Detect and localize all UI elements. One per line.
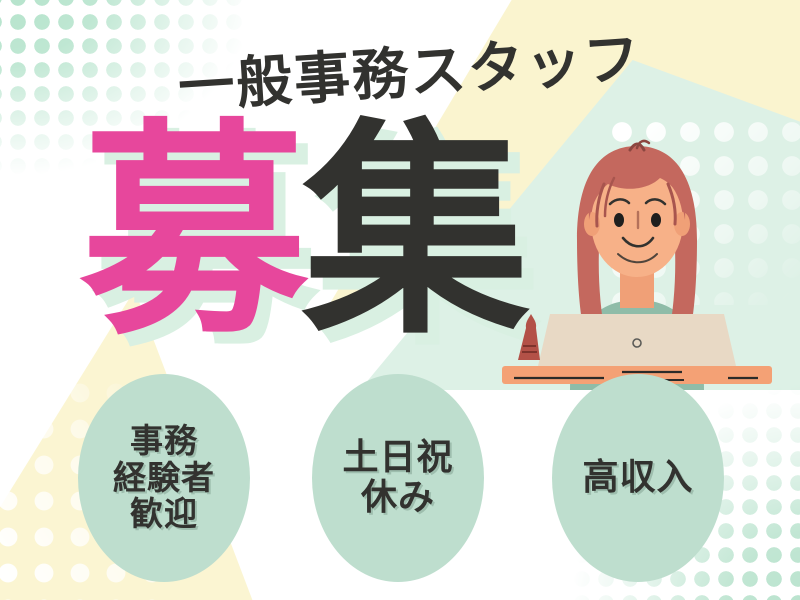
recruitment-poster: 一般事務スタッフ 募 集 bbox=[0, 0, 800, 600]
badge-line: 休み bbox=[361, 478, 435, 518]
eye-left bbox=[614, 213, 624, 227]
badge-high-income[interactable]: 高収入 bbox=[552, 374, 724, 582]
vase bbox=[518, 314, 540, 360]
main-word: 募 集 bbox=[80, 128, 530, 338]
main-word-char-bo: 募 bbox=[80, 128, 308, 338]
badge-line: 歓迎 bbox=[130, 496, 198, 533]
badge-office-experience-welcome[interactable]: 事務 経験者 歓迎 bbox=[78, 374, 250, 582]
eye-right bbox=[651, 213, 661, 227]
badge-group: 事務 経験者 歓迎 土日祝 休み 高収入 bbox=[72, 364, 772, 592]
badge-line: 土日祝 bbox=[342, 438, 453, 478]
badge-weekends-holidays-off[interactable]: 土日祝 休み bbox=[312, 374, 484, 582]
badge-line: 高収入 bbox=[582, 458, 693, 498]
woman-at-laptop-illustration bbox=[492, 128, 782, 390]
laptop bbox=[538, 314, 736, 366]
badge-line: 事務 bbox=[130, 423, 198, 460]
badge-line: 経験者 bbox=[113, 460, 215, 497]
